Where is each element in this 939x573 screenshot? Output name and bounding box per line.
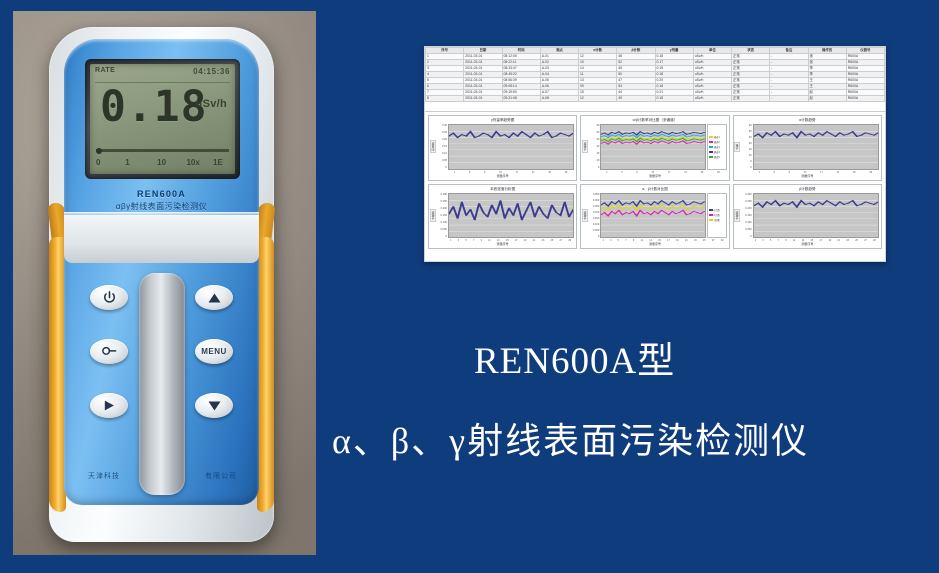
chart-x-axis-label: 测量序号 <box>734 174 881 180</box>
chart-panel: γ剂量率趋势图剂量率0.300.250.200.150.100.05015913… <box>428 115 577 181</box>
chart-y-axis-label-text: 计数率 <box>430 209 436 222</box>
table-cell: 12 <box>579 96 617 102</box>
chart-legend-label: 通道2 <box>714 140 720 144</box>
product-photo: RATE 04:15:36 0.18 uSv/h 011010x1E REN60… <box>13 11 316 555</box>
device-nameplate: REN600A αβγ射线表面污染检测仪 <box>64 189 259 212</box>
chart-panel: α/β计数率对比图（多通道）计数率6050403020100通道1通道2通道3通… <box>580 115 729 181</box>
chart-panel: β计数趋势计数率0.3000.2500.2000.1500.1000.05001… <box>733 184 882 250</box>
chart-y-tick: 10 <box>587 159 599 162</box>
chart-legend-label: 通道5 <box>714 155 720 159</box>
chart-y-ticks: 0.300.250.200.150.100.050 <box>435 124 448 170</box>
device-footer-right: 有限公司 <box>205 471 237 481</box>
chart-y-tick: 25 <box>740 136 752 139</box>
chart-plot-area <box>600 193 705 239</box>
chart-legend-item: α计数 <box>709 208 725 212</box>
chart-grid: γ剂量率趋势图剂量率0.300.250.200.150.100.05015913… <box>425 112 885 252</box>
device-footer-left: 天津科技 <box>88 471 120 481</box>
chart-y-tick: 35 <box>740 124 752 127</box>
device-footer-text: 天津科技 有限公司 <box>64 471 259 483</box>
chart-y-tick: 0.30 <box>435 124 447 127</box>
chart-y-tick: 0.100 <box>740 221 752 224</box>
chart-body: 计数率6050403020100通道1通道2通道3通道4通道5 <box>581 123 728 171</box>
chart-legend: α计数β计数γ剂量 <box>707 193 727 239</box>
table-cell: 09:31:08 <box>502 96 540 102</box>
chart-x-axis-label: 测量序号 <box>429 174 576 180</box>
table-cell: 49 <box>617 96 655 102</box>
lcd-scale-tick: 10x <box>186 158 199 167</box>
lcd-mode-label: RATE <box>95 67 115 74</box>
chart-legend-item: 通道2 <box>709 140 725 144</box>
measurement-data-table: 序号日期时间测点α计数β计数γ剂量单位状态备注操作员仪器号12011-03-01… <box>425 47 885 112</box>
menu-button-label: MENU <box>201 347 227 356</box>
chart-legend-item: 通道1 <box>709 135 725 139</box>
chart-y-tick: 0.05 <box>435 159 447 162</box>
chart-y-tick: 40 <box>587 138 599 141</box>
chart-y-tick: 0.050 <box>587 229 599 232</box>
triangle-up-icon <box>207 292 222 304</box>
table-cell: A-08 <box>540 96 578 102</box>
chart-legend-swatch <box>709 219 713 221</box>
detector-device: RATE 04:15:36 0.18 uSv/h 011010x1E REN60… <box>49 27 274 542</box>
chart-legend-swatch <box>709 151 713 153</box>
chart-y-tick: 0.150 <box>740 214 752 217</box>
chart-body: 计数率0.3500.3000.2500.2000.1500.1000.0500α… <box>581 192 728 240</box>
chart-y-tick: 0.100 <box>587 223 599 226</box>
lcd-scale-tick: 0 <box>96 158 100 167</box>
play-button[interactable] <box>90 393 128 418</box>
chart-y-tick: 0 <box>435 166 447 169</box>
chart-y-tick: 0 <box>587 235 599 238</box>
chart-y-tick: 0.200 <box>587 211 599 214</box>
chart-y-tick: 0.15 <box>435 145 447 148</box>
chart-y-tick: 60 <box>587 124 599 127</box>
chart-legend-swatch <box>709 209 713 211</box>
chart-y-axis-label-text: 计数 <box>734 142 740 152</box>
slide-background: RATE 04:15:36 0.18 uSv/h 011010x1E REN60… <box>0 0 939 573</box>
chart-body: 计数率0.3000.2500.2000.1500.1000.0500 <box>429 192 576 240</box>
chart-legend-swatch <box>709 136 713 138</box>
chart-y-tick: 20 <box>740 142 752 145</box>
table-row[interactable]: 82011-03-0109:31:08A-0812490.18uSv/h正常-赵… <box>426 96 885 102</box>
chart-plot-area <box>753 193 879 239</box>
chart-legend-item: 通道3 <box>709 145 725 149</box>
chart-y-axis-label-text: 计数率 <box>582 140 588 153</box>
table-cell: uSv/h <box>693 96 731 102</box>
chart-y-tick: 0.200 <box>740 207 752 210</box>
chart-panel: 本底涨落分析图计数率0.3000.2500.2000.1500.1000.050… <box>428 184 577 250</box>
chart-legend-item: β计数 <box>709 213 725 217</box>
chart-y-tick: 30 <box>587 145 599 148</box>
chart-legend-label: 通道3 <box>714 145 720 149</box>
chart-body: 计数率0.3000.2500.2000.1500.1000.0500 <box>734 192 881 240</box>
chart-plot-area <box>753 124 879 170</box>
page-subtitle: α、β、γ射线表面污染检测仪 <box>332 412 932 464</box>
chart-y-tick: 0.100 <box>435 221 447 224</box>
table-cell: 2011-03-01 <box>464 96 502 102</box>
lcd-bargraph-marker <box>96 148 102 154</box>
chart-y-tick: 0.250 <box>740 200 752 203</box>
chart-legend-label: α计数 <box>714 208 720 212</box>
chart-y-tick: 0.050 <box>435 228 447 231</box>
chart-y-tick: 30 <box>740 130 752 133</box>
chart-y-tick: 0.300 <box>435 193 447 196</box>
chart-y-tick: 0 <box>587 166 599 169</box>
chart-body: 剂量率0.300.250.200.150.100.050 <box>429 123 576 171</box>
play-icon <box>102 399 116 412</box>
chart-legend-swatch <box>709 156 713 158</box>
chart-plot-area <box>448 193 574 239</box>
chart-y-tick: 15 <box>740 148 752 151</box>
chart-legend-item: 通道5 <box>709 155 725 159</box>
chart-y-ticks: 0.3500.3000.2500.2000.1500.1000.0500 <box>587 193 600 239</box>
chart-legend-label: γ剂量 <box>714 218 720 222</box>
chart-x-axis-label: 测量序号 <box>581 242 728 248</box>
triangle-down-icon <box>207 400 222 412</box>
rubber-grip-right <box>257 237 274 512</box>
chart-panel: α、β计数对比图计数率0.3500.3000.2500.2000.1500.10… <box>580 184 729 250</box>
chart-y-tick: 0.150 <box>587 217 599 220</box>
chart-legend-item: γ剂量 <box>709 218 725 222</box>
power-icon <box>102 290 117 305</box>
chart-y-tick: 0.25 <box>435 131 447 134</box>
chart-y-tick: 0.20 <box>435 138 447 141</box>
power-button[interactable] <box>90 285 128 310</box>
chart-body: 计数35302520151050 <box>734 123 881 171</box>
chart-legend-swatch <box>709 214 713 216</box>
chart-panel: α计数趋势计数353025201510501591317212529测量序号 <box>733 115 882 181</box>
chart-y-tick: 20 <box>587 152 599 155</box>
chart-y-tick: 0.300 <box>740 193 752 196</box>
chart-y-tick: 0.10 <box>435 152 447 155</box>
lcd-scale-tick: 10 <box>157 158 166 167</box>
chart-y-ticks: 0.3000.2500.2000.1500.1000.0500 <box>435 193 448 239</box>
lcd-bezel: RATE 04:15:36 0.18 uSv/h 011010x1E <box>85 59 240 179</box>
chart-y-tick: 0.150 <box>435 214 447 217</box>
chart-legend-label: 通道4 <box>714 150 720 154</box>
chart-x-axis-label: 测量序号 <box>581 174 728 180</box>
magnifier-icon <box>101 345 118 358</box>
chart-legend-swatch <box>709 141 713 143</box>
chart-legend-item: 通道4 <box>709 150 725 154</box>
down-button[interactable] <box>195 393 233 418</box>
lcd-reading-unit: uSv/h <box>196 98 227 110</box>
chart-y-tick: 50 <box>587 131 599 134</box>
menu-button[interactable]: MENU <box>195 339 233 364</box>
chart-plot-area <box>448 124 574 170</box>
chart-y-tick: 0.350 <box>587 193 599 196</box>
device-model-text: REN600A <box>64 189 259 199</box>
chart-x-axis-label: 测量序号 <box>429 242 576 248</box>
chart-y-ticks: 6050403020100 <box>587 124 600 170</box>
page-title: REN600A型 <box>474 330 894 384</box>
lcd-scale-tick: 1 <box>125 158 129 167</box>
lcd-reading-value: 0.18 <box>100 86 208 129</box>
lcd-bargraph <box>96 149 229 152</box>
chart-plot-area <box>600 124 705 170</box>
chart-y-tick: 0.050 <box>740 228 752 231</box>
chart-y-tick: 0.200 <box>435 207 447 210</box>
chart-legend-swatch <box>709 146 713 148</box>
chart-y-axis-label-text: 计数率 <box>734 209 740 222</box>
lcd-timestamp: 04:15:36 <box>193 67 230 76</box>
lcd-screen: RATE 04:15:36 0.18 uSv/h 011010x1E <box>90 64 235 174</box>
chart-y-ticks: 35302520151050 <box>740 124 753 170</box>
search-button[interactable] <box>90 339 128 364</box>
table-cell: - <box>770 96 808 102</box>
lcd-scale-tick: 1E <box>213 158 223 167</box>
table-cell: R600A <box>846 96 884 102</box>
table-cell: 8 <box>426 96 464 102</box>
chart-x-axis-label: 测量序号 <box>734 242 881 248</box>
table-cell: 赵 <box>808 96 846 102</box>
table-cell: 0.18 <box>655 96 693 102</box>
chart-y-tick: 10 <box>740 154 752 157</box>
chart-y-tick: 5 <box>740 160 752 163</box>
chart-legend-label: 通道1 <box>714 135 720 139</box>
lcd-scale-labels: 011010x1E <box>96 158 229 170</box>
chart-y-tick: 0 <box>740 235 752 238</box>
device-handle-grip <box>139 273 185 495</box>
chart-y-tick: 0.300 <box>587 199 599 202</box>
table-cell: 正常 <box>732 96 770 102</box>
up-button[interactable] <box>195 285 233 310</box>
device-faceplate: RATE 04:15:36 0.18 uSv/h 011010x1E REN60… <box>64 39 259 505</box>
device-chinese-text: αβγ射线表面污染检测仪 <box>64 201 259 212</box>
chart-y-tick: 0 <box>740 166 752 169</box>
chart-legend: 通道1通道2通道3通道4通道5 <box>707 124 727 170</box>
chart-y-axis-label-text: 剂量率 <box>430 140 436 153</box>
chart-y-axis-label-text: 计数率 <box>582 209 588 222</box>
chart-y-tick: 0.250 <box>587 205 599 208</box>
chart-y-ticks: 0.3000.2500.2000.1500.1000.0500 <box>740 193 753 239</box>
device-white-band <box>64 215 259 263</box>
chart-y-tick: 0.250 <box>435 200 447 203</box>
device-keypad: MENU 天津科技 有限公司 <box>64 263 259 505</box>
lcd-status-row: RATE 04:15:36 <box>95 67 230 80</box>
software-screenshot-panel: 序号日期时间测点α计数β计数γ剂量单位状态备注操作员仪器号12011-03-01… <box>424 46 886 262</box>
chart-legend-label: β计数 <box>714 213 720 217</box>
chart-y-tick: 0 <box>435 235 447 238</box>
